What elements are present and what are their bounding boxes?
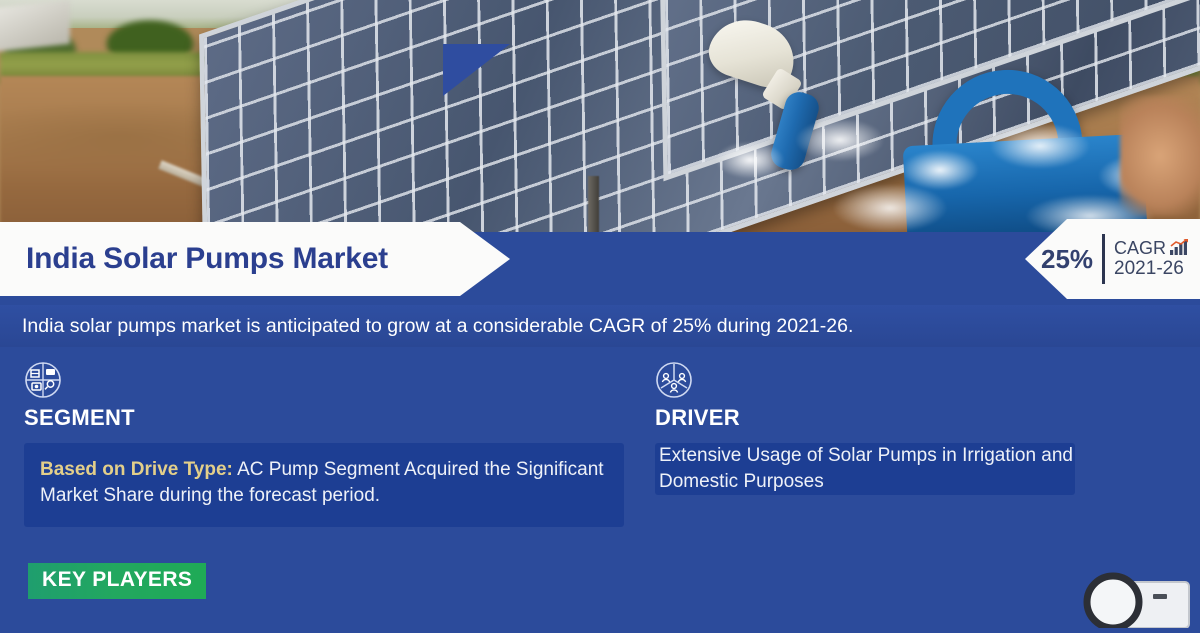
driver-section: DRIVER Extensive Usage of Solar Pumps in… <box>655 361 1075 495</box>
cagr-label-row: CAGR <box>1114 239 1189 259</box>
segment-body: Based on Drive Type: AC Pump Segment Acq… <box>40 457 608 509</box>
cagr-text-block: CAGR 2021-26 <box>1114 239 1189 280</box>
panel-support-leg <box>588 176 599 232</box>
subtitle-strip: India solar pumps market is anticipated … <box>0 305 1200 347</box>
subtitle-text: India solar pumps market is anticipated … <box>22 315 853 338</box>
segment-section: SEGMENT Based on Drive Type: AC Pump Seg… <box>24 361 624 527</box>
driver-title: DRIVER <box>655 405 1075 431</box>
segment-title: SEGMENT <box>24 405 624 431</box>
cagr-years: 2021-26 <box>1114 259 1189 280</box>
cagr-percent: 25% <box>1041 244 1093 275</box>
hero-photo <box>0 0 1200 232</box>
segment-card: Based on Drive Type: AC Pump Segment Acq… <box>24 443 624 527</box>
hand <box>1120 96 1200 216</box>
title-banner: India Solar Pumps Market <box>0 222 510 296</box>
bar-chart-icon <box>1170 239 1189 259</box>
driver-people-circle-icon <box>655 361 693 399</box>
title-banner-shape: India Solar Pumps Market <box>0 222 510 296</box>
driver-body: Extensive Usage of Solar Pumps in Irriga… <box>659 443 1075 495</box>
background-building <box>0 0 70 52</box>
key-players-badge: KEY PLAYERS <box>28 563 206 599</box>
page-title: India Solar Pumps Market <box>26 242 388 276</box>
key-players-label: KEY PLAYERS <box>42 568 192 591</box>
segment-highlight: Based on Drive Type: <box>40 459 233 480</box>
driver-card: Extensive Usage of Solar Pumps in Irriga… <box>655 443 1075 495</box>
magnifier-logo-icon <box>1083 568 1200 628</box>
segment-circle-icon <box>24 361 62 399</box>
cagr-divider <box>1102 234 1105 284</box>
title-banner-arrow <box>443 44 510 96</box>
cagr-label: CAGR <box>1114 239 1166 258</box>
